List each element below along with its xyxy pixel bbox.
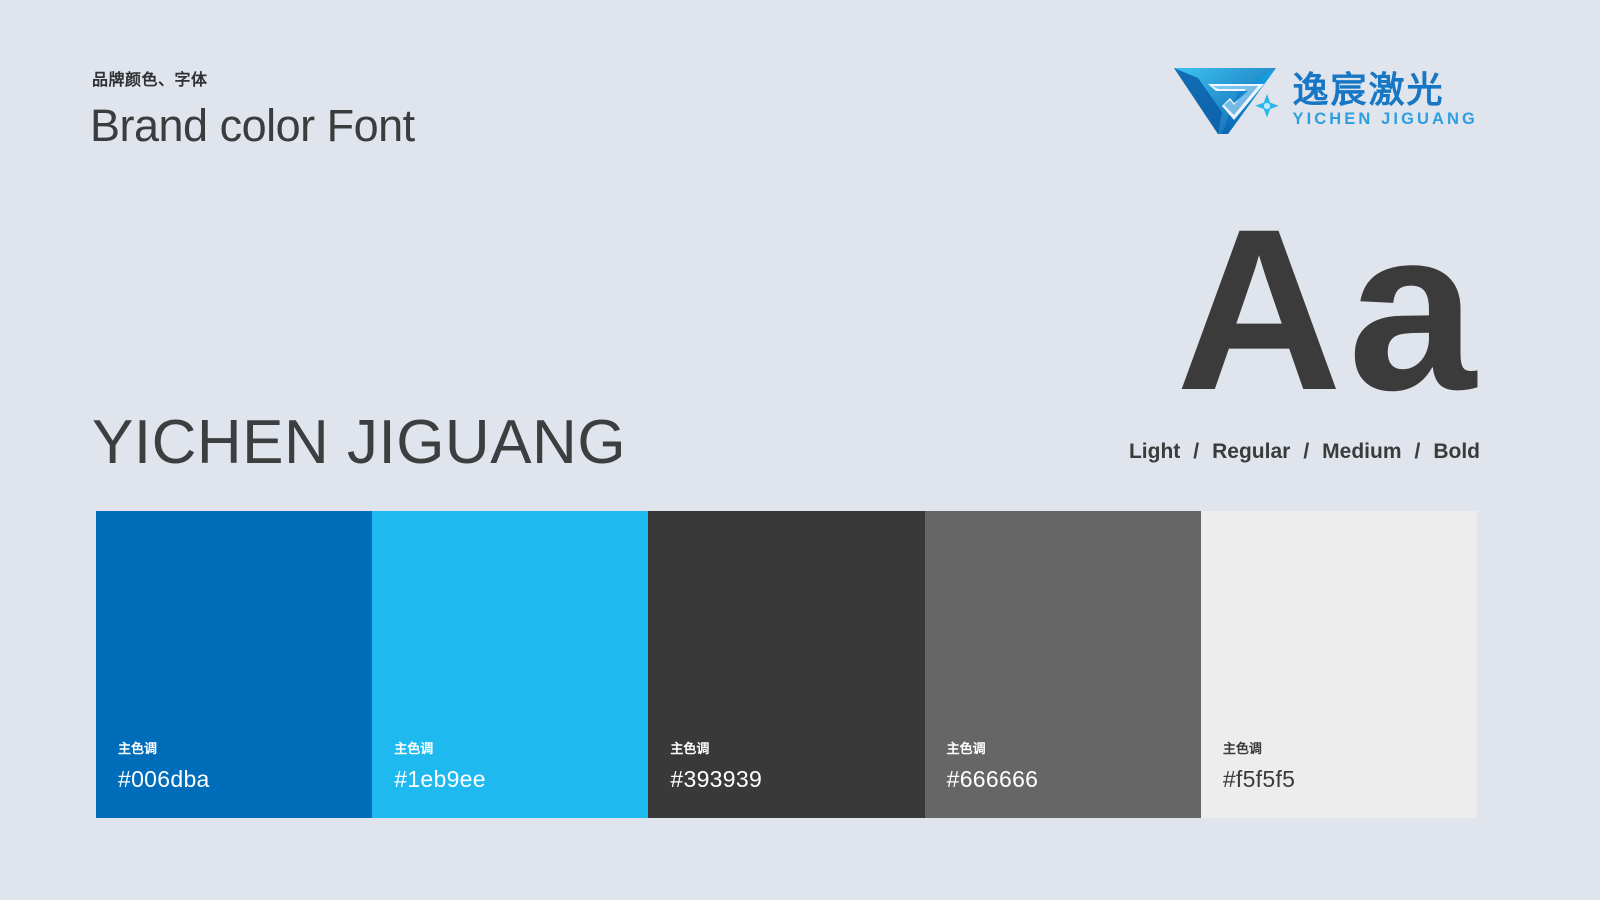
font-weight-light: Light <box>1129 440 1180 464</box>
type-specimen: Aa <box>1176 216 1482 405</box>
swatch-label: 主色调 <box>670 741 924 759</box>
weight-separator: / <box>1402 440 1434 464</box>
type-specimen-aa: Aa <box>1176 216 1482 405</box>
logo-wordmark: 逸宸激光 YICHEN JIGUANG <box>1292 72 1478 129</box>
color-swatch-cyan[interactable]: 主色调 #1eb9ee <box>372 511 648 818</box>
color-swatch-mid-gray[interactable]: 主色调 #666666 <box>925 511 1201 818</box>
font-weight-list: Light / Regular / Medium / Bold <box>1129 440 1480 464</box>
swatch-hex-value: #666666 <box>947 767 1201 792</box>
color-swatch-dark-gray[interactable]: 主色调 #393939 <box>648 511 924 818</box>
page-kicker: 品牌颜色、字体 <box>92 66 208 90</box>
logo-chinese-name: 逸宸激光 <box>1292 72 1478 110</box>
brand-wordmark-display: YICHEN JIGUANG <box>92 409 626 477</box>
swatch-label: 主色调 <box>118 741 372 759</box>
swatch-label: 主色调 <box>1223 741 1477 759</box>
weight-separator: / <box>1290 440 1322 464</box>
font-weight-bold: Bold <box>1433 440 1480 464</box>
swatch-hex-value: #006dba <box>118 767 372 792</box>
logo-mark-icon <box>1172 62 1278 138</box>
color-swatch-primary-blue[interactable]: 主色调 #006dba <box>96 511 372 818</box>
swatch-hex-value: #393939 <box>670 767 924 792</box>
swatch-label: 主色调 <box>947 741 1201 759</box>
weight-separator: / <box>1180 440 1212 464</box>
swatch-label: 主色调 <box>394 741 648 759</box>
font-weight-regular: Regular <box>1212 440 1290 464</box>
page-title: Brand color Font <box>90 99 415 153</box>
logo-english-name: YICHEN JIGUANG <box>1292 110 1478 128</box>
color-palette: 主色调 #006dba 主色调 #1eb9ee 主色调 #393939 主色调 … <box>96 511 1477 818</box>
swatch-hex-value: #1eb9ee <box>394 767 648 792</box>
font-weight-medium: Medium <box>1322 440 1401 464</box>
color-swatch-light-gray[interactable]: 主色调 #f5f5f5 <box>1201 511 1477 818</box>
swatch-hex-value: #f5f5f5 <box>1223 767 1477 792</box>
brand-logo: 逸宸激光 YICHEN JIGUANG <box>1172 62 1478 138</box>
brand-guideline-page: 品牌颜色、字体 Brand color Font <box>0 0 1600 900</box>
